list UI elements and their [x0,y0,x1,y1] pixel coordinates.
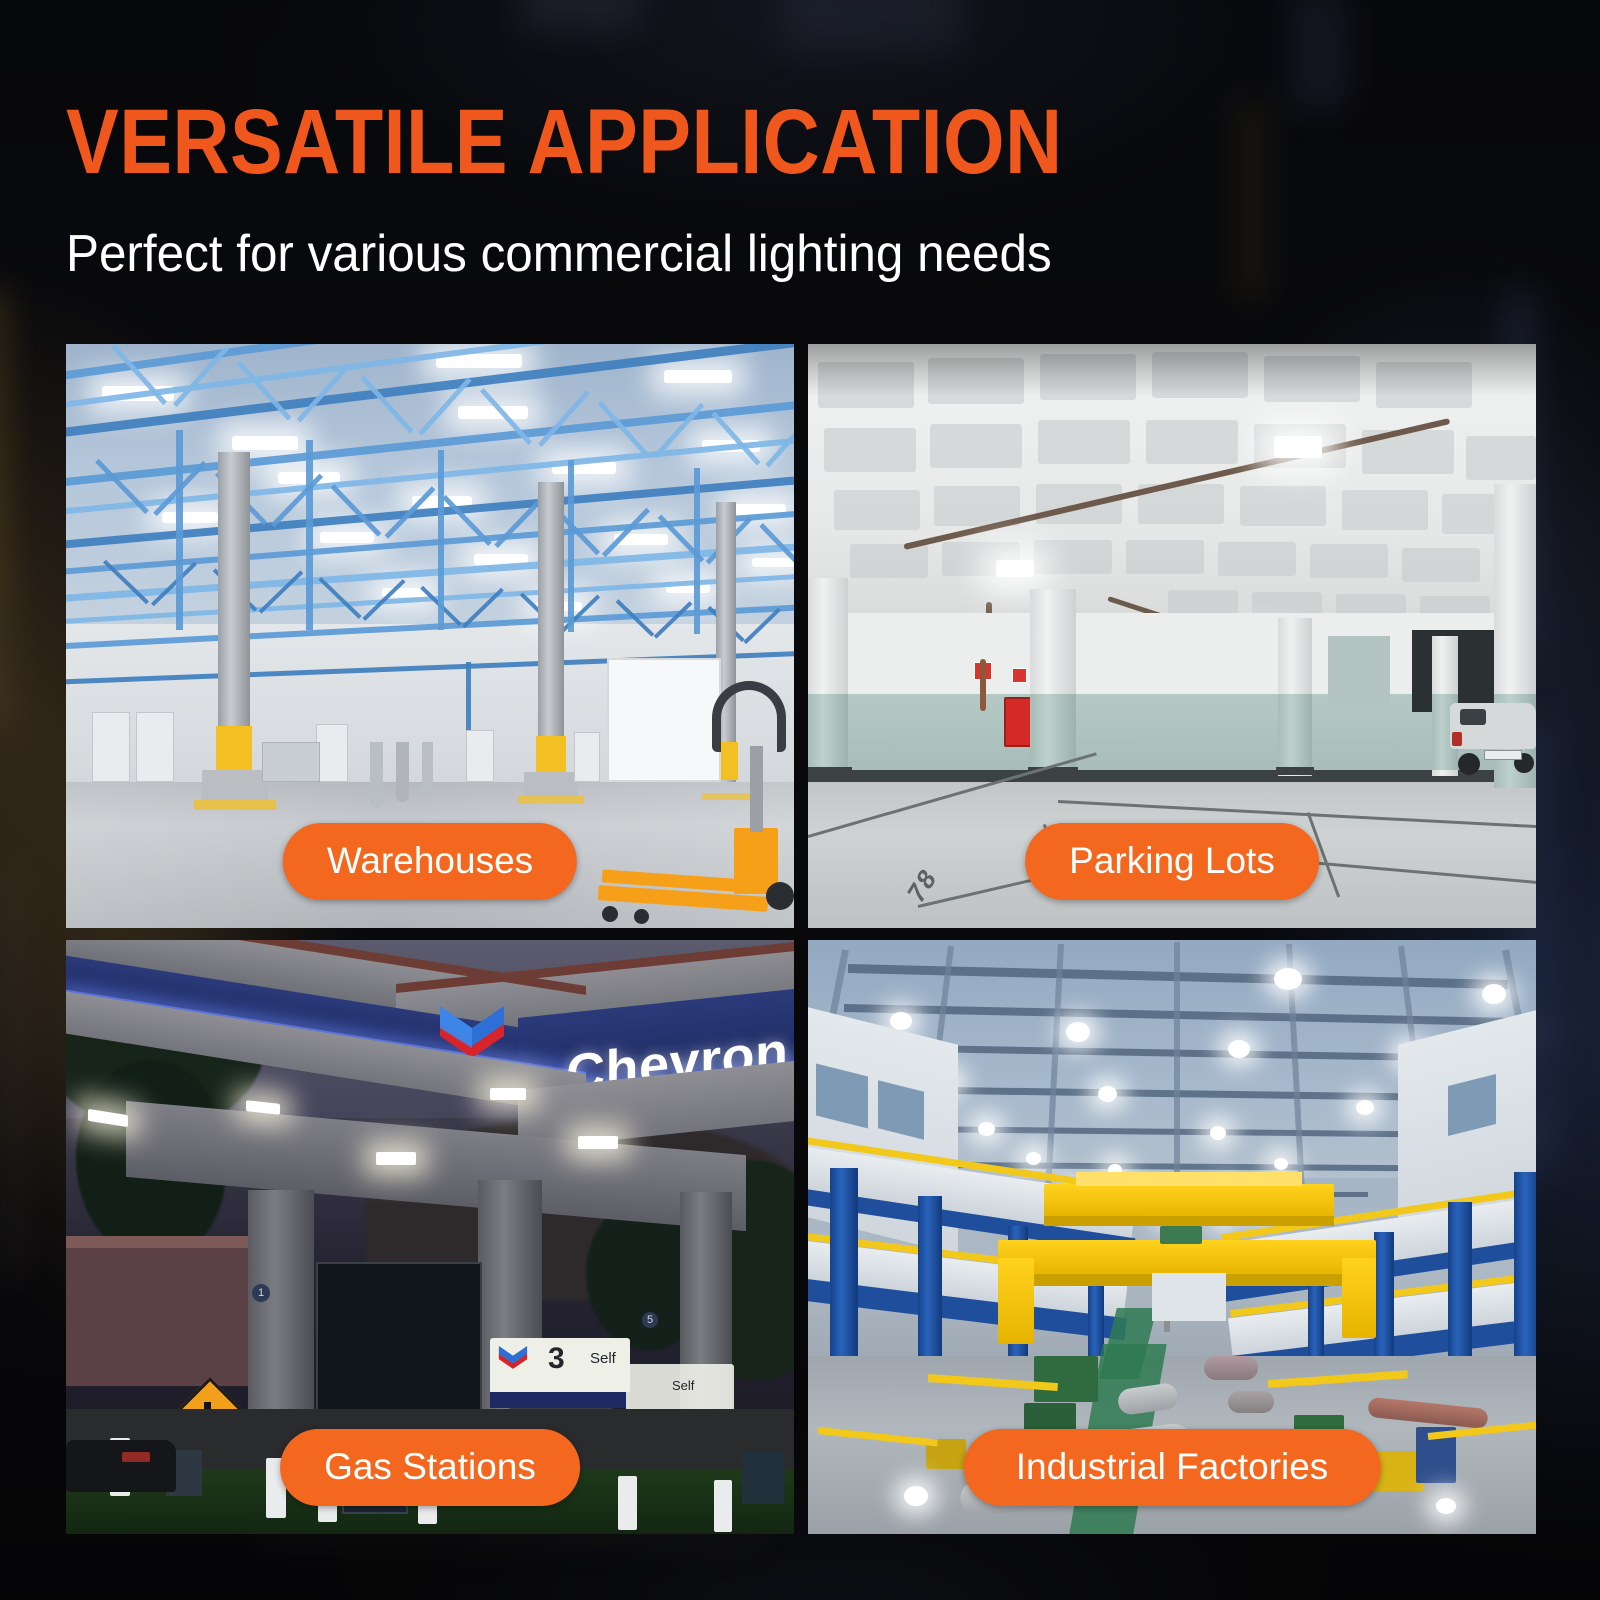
pump-mode-label: Self [590,1350,616,1367]
panel-industrial-factories[interactable]: Industrial Factories [808,940,1536,1534]
panel-parking-lots[interactable]: 78 Parking Lots [808,344,1536,928]
pump-number: 3 [548,1342,565,1376]
panel-warehouses[interactable]: Warehouses [66,344,794,928]
panel-label-parking-lots: Parking Lots [1025,823,1319,900]
panel-gas-stations[interactable]: Chevron 1 3 5 [66,940,794,1534]
header: VERSATILE APPLICATION Perfect for variou… [66,96,1266,280]
panel-label-warehouses: Warehouses [283,823,577,900]
panel-label-industrial-factories: Industrial Factories [964,1429,1381,1506]
application-grid: Warehouses [66,344,1536,1534]
page-title: VERSATILE APPLICATION [66,96,1098,188]
panel-label-gas-stations: Gas Stations [280,1429,580,1506]
versatile-application-poster: VERSATILE APPLICATION Perfect for variou… [0,0,1600,1600]
page-subtitle: Perfect for various commercial lighting … [66,188,1206,280]
